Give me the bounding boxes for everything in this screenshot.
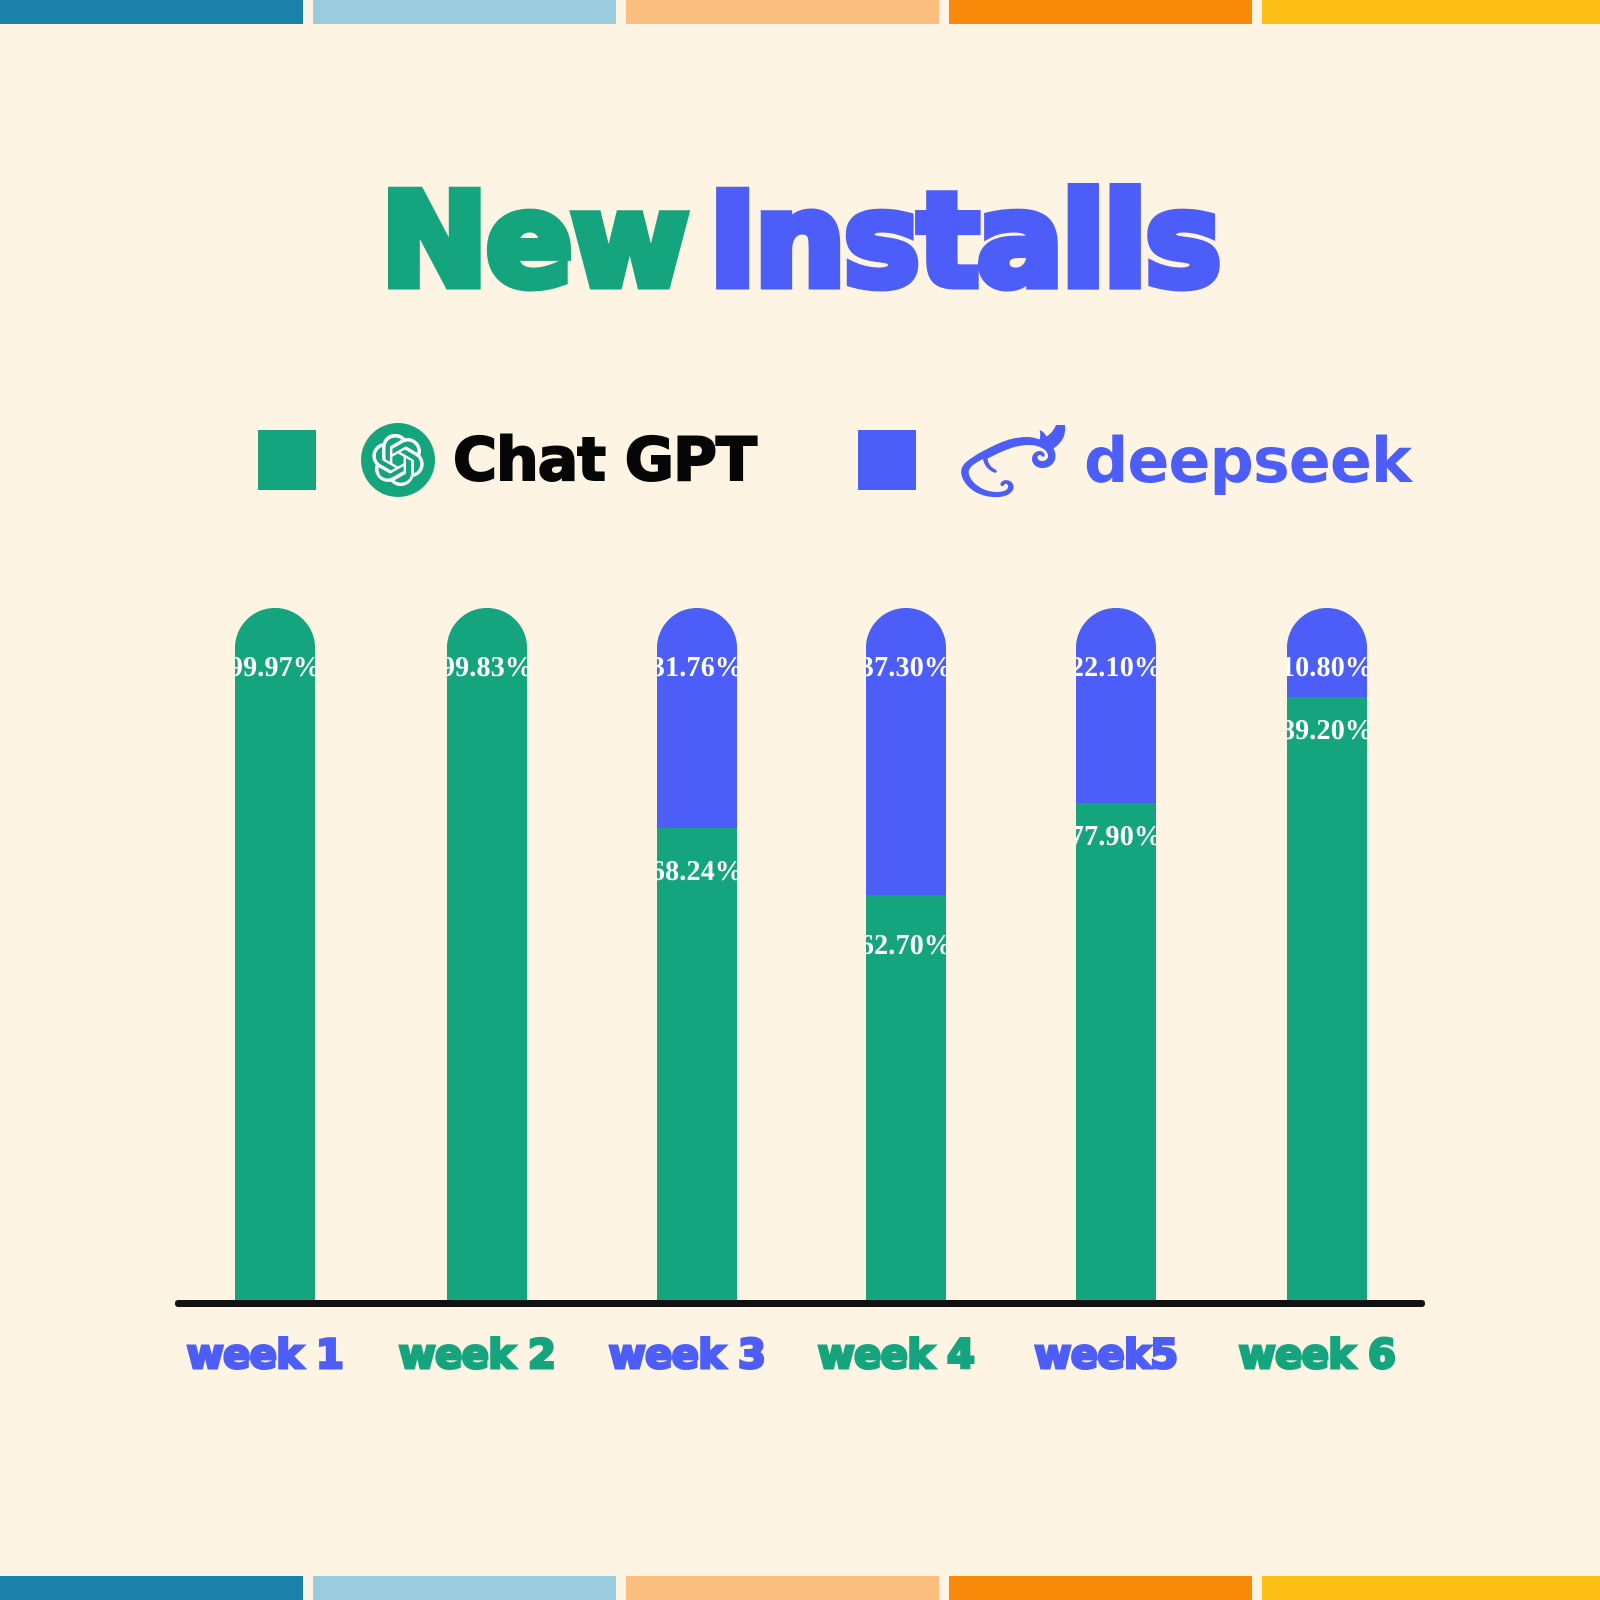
strip-segment-2	[313, 1576, 616, 1600]
bar-value-label-deepseek: 31.76%	[657, 652, 737, 684]
strip-segment-4	[949, 1576, 1252, 1600]
bar-chart: 99.97% week 1 99.83% week 2 31.76% 68.24…	[0, 0, 1600, 1600]
bar-value-label-deepseek: 37.30%	[866, 652, 946, 684]
bar-week-4[interactable]: 37.30% 62.70%	[866, 608, 946, 1300]
bar-week-6[interactable]: 10.80% 89.20%	[1287, 608, 1367, 1300]
bar-week-2[interactable]: 99.83%	[447, 608, 527, 1300]
bar-group-week-2[interactable]: 99.83%	[447, 608, 527, 1300]
category-label-week-6: week 6	[1167, 1332, 1467, 1378]
bar-group-week-3[interactable]: 31.76% 68.24%	[657, 608, 737, 1300]
bar-group-week-6[interactable]: 10.80% 89.20%	[1287, 608, 1367, 1300]
bar-week-5[interactable]: 22.10% 77.90%	[1076, 608, 1156, 1300]
bar-value-label-chatgpt: 68.24%	[657, 856, 737, 888]
chart-page: NewInstalls Chat GPT deepseek	[0, 0, 1600, 1600]
strip-segment-5	[1262, 1576, 1600, 1600]
bar-value-label-chatgpt: 77.90%	[1076, 821, 1156, 853]
bar-value-label-deepseek: 22.10%	[1076, 652, 1156, 684]
bar-segment-chatgpt	[235, 608, 315, 1300]
strip-segment-3	[626, 1576, 939, 1600]
bar-value-label-chatgpt: 89.20%	[1287, 715, 1367, 747]
strip-segment-1	[0, 1576, 303, 1600]
bar-value-label-deepseek: 10.80%	[1287, 652, 1367, 684]
bar-group-week-1[interactable]: 99.97%	[235, 608, 315, 1300]
bar-group-week-4[interactable]: 37.30% 62.70%	[866, 608, 946, 1300]
bar-segment-chatgpt	[1076, 803, 1156, 1300]
bar-segment-chatgpt	[657, 828, 737, 1300]
bar-segment-deepseek	[1076, 608, 1156, 803]
bottom-color-strip	[0, 1576, 1600, 1600]
bar-value-label-chatgpt: 62.70%	[866, 930, 946, 962]
bar-value-label-chatgpt: 99.83%	[447, 652, 527, 684]
bar-segment-chatgpt	[1287, 697, 1367, 1300]
x-axis-line	[175, 1300, 1425, 1307]
bar-group-week-5[interactable]: 22.10% 77.90%	[1076, 608, 1156, 1300]
bar-value-label-chatgpt: 99.97%	[235, 652, 315, 684]
bar-week-3[interactable]: 31.76% 68.24%	[657, 608, 737, 1300]
bar-segment-chatgpt	[447, 608, 527, 1300]
bar-week-1[interactable]: 99.97%	[235, 608, 315, 1300]
bar-segment-deepseek	[657, 608, 737, 828]
